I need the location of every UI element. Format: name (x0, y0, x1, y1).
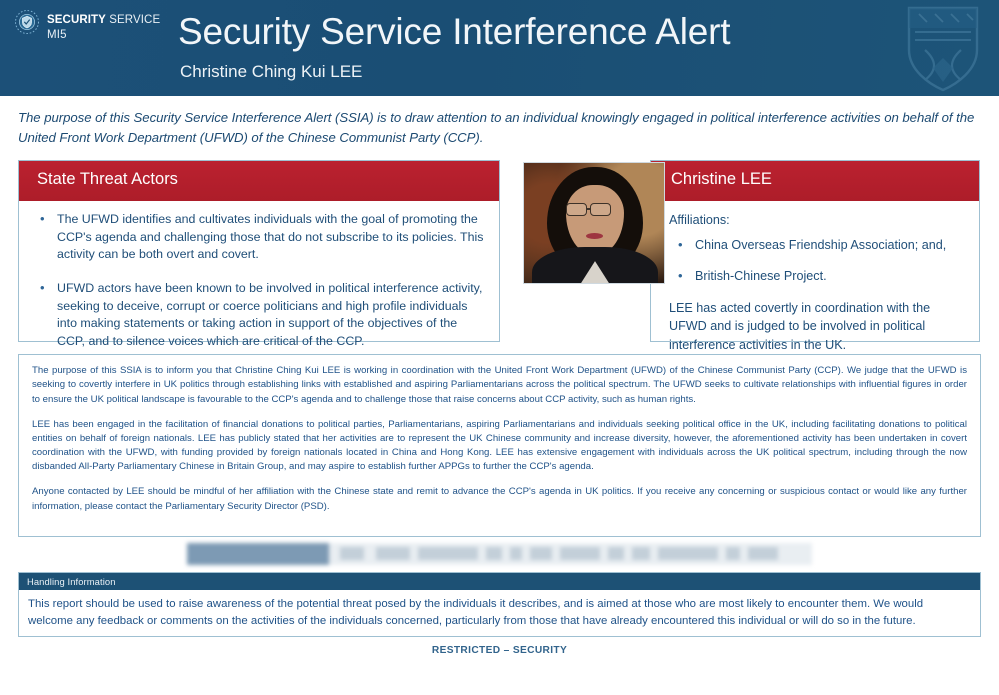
redaction-block-primary (187, 543, 332, 565)
list-item: China Overseas Friendship Association; a… (665, 237, 969, 255)
state-threat-actors-body: The UFWD identifies and cultivates indiv… (19, 201, 499, 372)
narrative-box: The purpose of this SSIA is to inform yo… (18, 354, 981, 537)
narrative-paragraph-2: LEE has been engaged in the facilitation… (32, 418, 967, 475)
page-subtitle: Christine Ching Kui LEE (180, 62, 362, 82)
redacted-contact-bar (187, 543, 812, 565)
handling-information-box: Handling Information This report should … (18, 572, 981, 637)
coat-of-arms-watermark-icon (895, 2, 991, 94)
christine-lee-assessment-note: LEE has acted covertly in coordination w… (669, 299, 969, 354)
mi5-logo: SECURITY SERVICE MI5 (14, 6, 160, 41)
wordmark-service: SERVICE (106, 14, 160, 26)
redaction-block-secondary (332, 543, 812, 565)
list-item: The UFWD identifies and cultivates indiv… (29, 211, 487, 264)
mi5-crest-icon (14, 9, 40, 37)
mi5-wordmark: SECURITY SERVICE MI5 (47, 6, 160, 41)
wordmark-security: SECURITY (47, 14, 106, 26)
christine-lee-title: Christine LEE (651, 161, 979, 201)
document-header: SECURITY SERVICE MI5 Security Service In… (0, 0, 999, 96)
portrait-glasses-left (566, 203, 587, 216)
affiliations-label: Affiliations: (669, 213, 969, 227)
page-title: Security Service Interference Alert (178, 11, 730, 53)
christine-lee-panel: Christine LEE Affiliations: China Overse… (650, 160, 980, 342)
affiliations-list: China Overseas Friendship Association; a… (665, 237, 969, 286)
state-threat-actors-bullets: The UFWD identifies and cultivates indiv… (29, 211, 487, 350)
list-item: British-Chinese Project. (665, 268, 969, 286)
state-threat-actors-title: State Threat Actors (19, 161, 499, 201)
state-threat-actors-panel: State Threat Actors The UFWD identifies … (18, 160, 500, 342)
wordmark-mi5: MI5 (47, 29, 160, 41)
document-body: The purpose of this Security Service Int… (0, 108, 999, 695)
portrait-glasses-right (590, 203, 611, 216)
christine-lee-body: Affiliations: China Overseas Friendship … (651, 201, 979, 358)
handling-information-title: Handling Information (19, 573, 980, 590)
list-item: UFWD actors have been known to be involv… (29, 280, 487, 350)
portrait-glasses-bridge (587, 208, 591, 210)
subject-portrait-photo (523, 162, 665, 284)
handling-information-text: This report should be used to raise awar… (19, 590, 980, 636)
panels-row: State Threat Actors The UFWD identifies … (18, 160, 981, 342)
narrative-paragraph-3: Anyone contacted by LEE should be mindfu… (32, 485, 967, 513)
intro-paragraph: The purpose of this Security Service Int… (18, 108, 981, 148)
classification-footer: RESTRICTED – SECURITY (0, 645, 999, 656)
